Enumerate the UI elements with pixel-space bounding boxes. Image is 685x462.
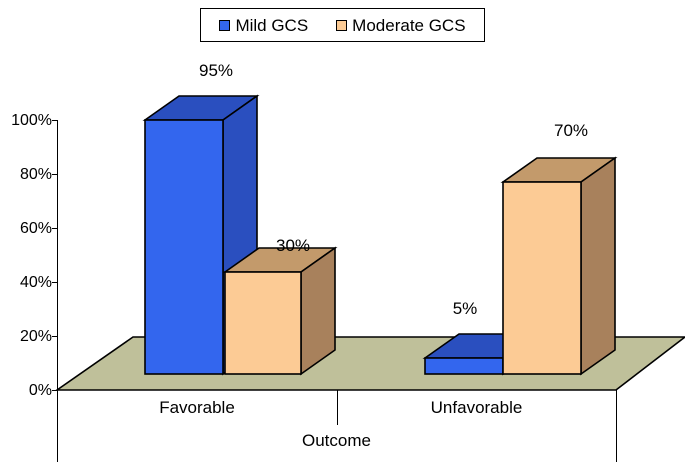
y-tick-label-20: 20% [0, 329, 52, 345]
legend-entry-moderate-gcs: Moderate GCS [336, 17, 465, 34]
bar-side-face [581, 158, 615, 374]
bar-unfavorable-moderate-gcs[interactable] [498, 150, 685, 410]
data-label-favorable-moderate-gcs: 30% [253, 237, 333, 254]
y-tick-label-100: 100% [0, 113, 52, 129]
legend-swatch-mild-gcs [219, 20, 230, 31]
bar-front-face [225, 272, 301, 374]
y-tick-mark-60 [52, 228, 58, 229]
y-tick-label-80: 80% [0, 167, 52, 183]
legend-swatch-moderate-gcs [336, 20, 347, 31]
bar-front-face [145, 120, 223, 374]
y-tick-label-40: 40% [0, 275, 52, 291]
chart-legend: Mild GCS Moderate GCS [200, 8, 485, 42]
data-label-unfavorable-moderate-gcs: 70% [531, 122, 611, 139]
y-tick-mark-20 [52, 336, 58, 337]
category-band-right-edge [616, 390, 617, 462]
category-axis-band: Favorable Unfavorable [57, 390, 616, 425]
y-tick-mark-40 [52, 282, 58, 283]
category-label-unfavorable: Unfavorable [337, 399, 616, 416]
legend-label-moderate-gcs: Moderate GCS [352, 17, 465, 34]
legend-label-mild-gcs: Mild GCS [235, 17, 308, 34]
y-axis-line [57, 120, 58, 390]
y-tick-mark-100 [52, 120, 58, 121]
category-label-favorable: Favorable [57, 399, 337, 416]
y-tick-label-60: 60% [0, 221, 52, 237]
y-tick-label-0: 0% [0, 383, 52, 399]
legend-entry-mild-gcs: Mild GCS [219, 17, 308, 34]
data-label-unfavorable-mild-gcs: 5% [425, 300, 505, 317]
chart-canvas: Mild GCS Moderate GCS 100% 80% 60% 40% 2… [0, 0, 685, 462]
x-axis-title: Outcome [57, 432, 616, 449]
y-tick-mark-80 [52, 174, 58, 175]
bar-front-face [503, 182, 581, 374]
y-axis-tick-group: 100% 80% 60% 40% 20% 0% [0, 0, 52, 462]
data-label-favorable-mild-gcs: 95% [176, 62, 256, 79]
bar-front-face [425, 358, 503, 374]
